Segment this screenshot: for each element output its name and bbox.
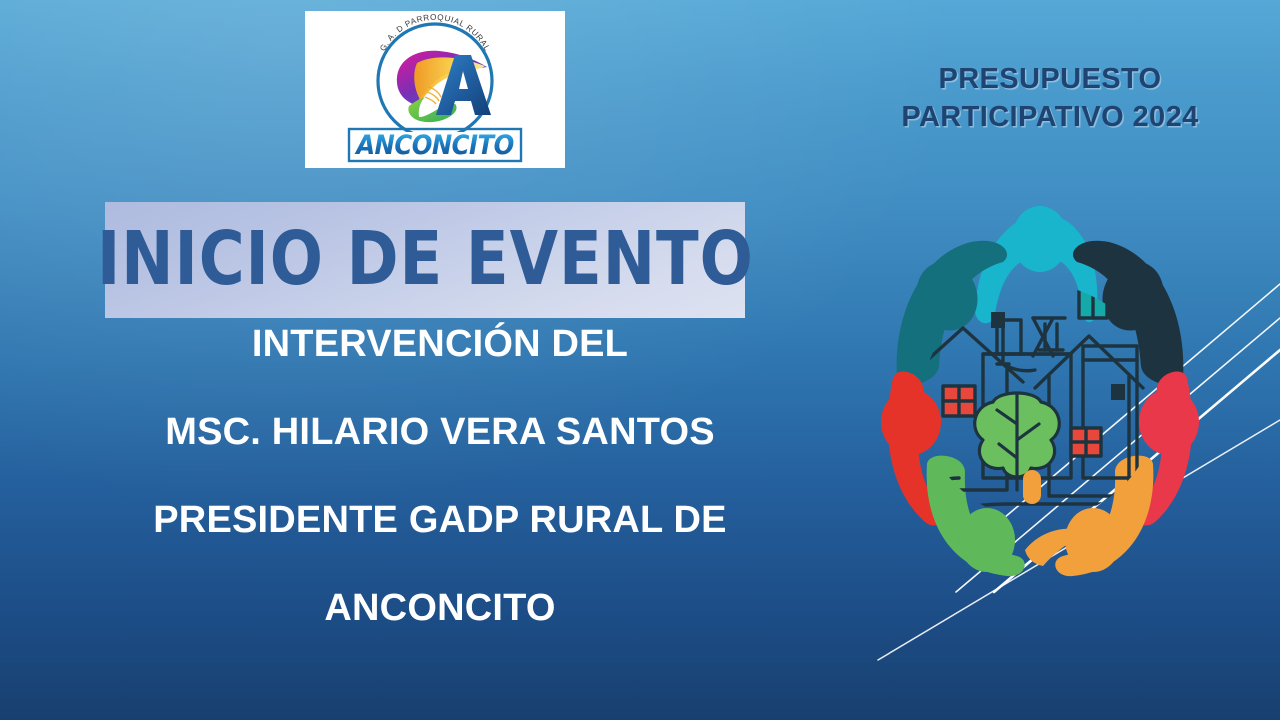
body-line-4: ANCONCITO: [95, 589, 785, 627]
budget-title: PRESUPUESTO PARTICIPATIVO 2024: [872, 60, 1228, 137]
gad-anconcito-logo: G. A. D PARROQUIAL RURAL ANCONCITO: [305, 11, 565, 168]
community-illustration: [875, 178, 1205, 586]
heading-banner: INICIO DE EVENTO: [105, 202, 745, 318]
body-line-2: MSC. HILARIO VERA SANTOS: [95, 413, 785, 451]
body-line-3: PRESIDENTE GADP RURAL DE: [95, 501, 785, 539]
body-text-block: INTERVENCIÓN DEL MSC. HILARIO VERA SANTO…: [95, 325, 785, 627]
logo-name-text: ANCONCITO: [354, 130, 514, 161]
person-figure-orange: [1025, 456, 1153, 577]
budget-title-line-1: PRESUPUESTO: [872, 60, 1228, 98]
body-line-1: INTERVENCIÓN DEL: [95, 325, 785, 363]
heading-title: INICIO DE EVENTO: [97, 222, 754, 296]
budget-title-line-2: PARTICIPATIVO 2024: [872, 98, 1228, 136]
presentation-slide: G. A. D PARROQUIAL RURAL ANCONCITO: [0, 0, 1280, 720]
